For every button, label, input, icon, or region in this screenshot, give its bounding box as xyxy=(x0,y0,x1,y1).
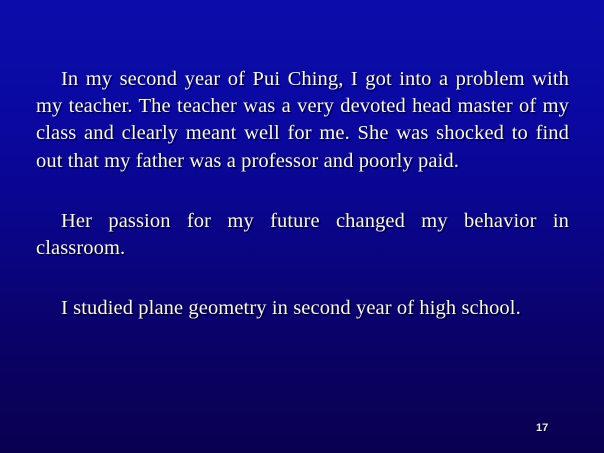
page-number: 17 xyxy=(536,422,566,435)
slide-body-text: In my second year of Pui Ching, I got in… xyxy=(36,66,569,322)
paragraph-1: In my second year of Pui Ching, I got in… xyxy=(36,66,569,175)
slide-canvas: In my second year of Pui Ching, I got in… xyxy=(0,0,604,453)
paragraph-3: I studied plane geometry in second year … xyxy=(36,295,569,322)
paragraph-2: Her passion for my future changed my beh… xyxy=(36,208,569,262)
